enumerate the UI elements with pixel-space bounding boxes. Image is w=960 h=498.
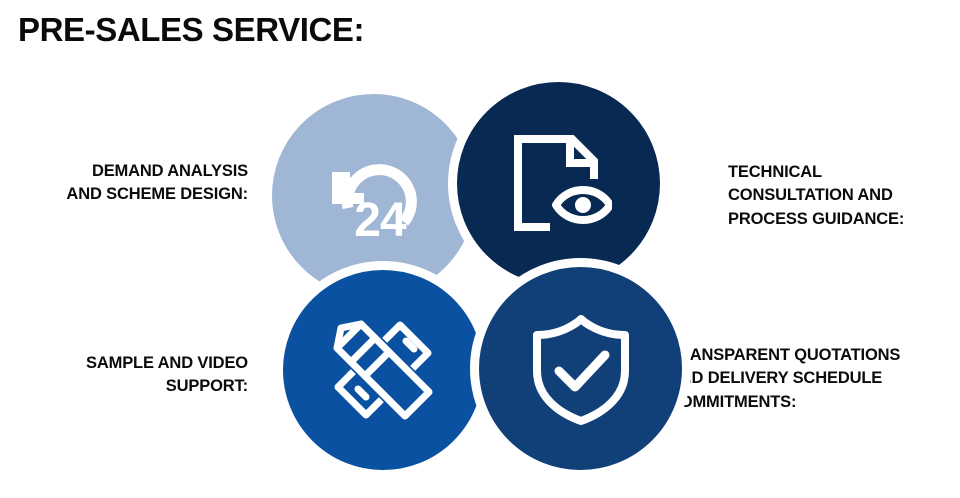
pencil-ruler-cross-icon xyxy=(328,315,438,425)
label-line: SUPPORT: xyxy=(8,375,248,398)
label-line: CONSULTATION AND xyxy=(728,184,960,207)
clock-24-hour-rotate-icon: 24 xyxy=(318,144,430,248)
label-line: SAMPLE AND VIDEO xyxy=(8,352,248,375)
label-transparent-quotations: TRANSPARENT QUOTATIONS AND DELIVERY SCHE… xyxy=(668,344,960,414)
label-demand-analysis: DEMAND ANALYSIS AND SCHEME DESIGN: xyxy=(8,160,248,207)
label-line: TRANSPARENT QUOTATIONS xyxy=(668,344,960,367)
label-line: AND DELIVERY SCHEDULE xyxy=(668,367,960,390)
label-line: PROCESS GUIDANCE: xyxy=(728,208,960,231)
circle-sample-video-support[interactable] xyxy=(274,261,492,479)
circle-cluster: 24 xyxy=(0,0,960,498)
label-sample-video-support: SAMPLE AND VIDEO SUPPORT: xyxy=(8,352,248,399)
circle-transparent-quotations[interactable] xyxy=(470,258,691,479)
document-eye-review-icon xyxy=(506,131,612,237)
shield-check-icon xyxy=(529,313,633,425)
label-line: COMMITMENTS: xyxy=(668,391,960,414)
infographic-canvas: PRE-SALES SERVICE: 24 xyxy=(0,0,960,498)
label-line: DEMAND ANALYSIS xyxy=(8,160,248,183)
label-technical-consultation: TECHNICAL CONSULTATION AND PROCESS GUIDA… xyxy=(728,161,960,231)
label-line: AND SCHEME DESIGN: xyxy=(8,183,248,206)
label-line: TECHNICAL xyxy=(728,161,960,184)
